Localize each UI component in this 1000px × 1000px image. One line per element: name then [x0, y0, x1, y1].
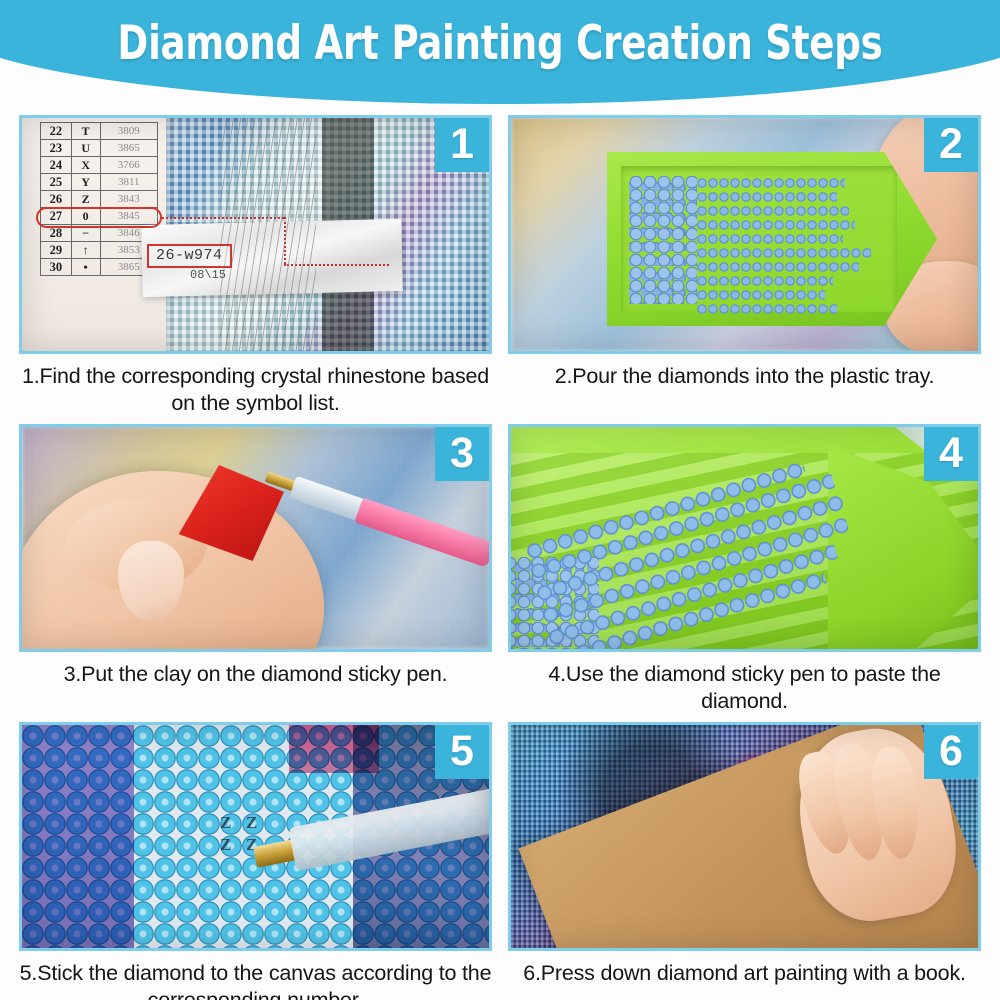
row-dmc: 3843 [100, 191, 157, 208]
canvas-symbol-z: Z [220, 813, 231, 833]
diamond-row [697, 290, 825, 301]
row-symbol: X [71, 157, 100, 174]
diamond-row [697, 262, 859, 273]
row-number: 29 [41, 242, 72, 259]
diamond-heap [629, 176, 697, 304]
table-row: 23 U 3865 [41, 140, 158, 157]
row-number: 24 [41, 157, 72, 174]
diamond-row [697, 304, 837, 315]
row-number: 26 [41, 191, 72, 208]
step-caption-2: 2.Pour the diamonds into the plastic tra… [508, 354, 981, 390]
page-header: Diamond Art Painting Creation Steps [0, 0, 1000, 104]
step-3-photo: 3 [19, 424, 492, 652]
infographic-page: Diamond Art Painting Creation Steps 22 T… [0, 0, 1000, 1000]
step-caption-6: 6.Press down diamond art painting with a… [508, 951, 981, 987]
table-row-highlighted: 26 Z 3843 [41, 191, 158, 208]
table-row: 22 T 3809 [41, 123, 158, 140]
step-caption-3: 3.Put the clay on the diamond sticky pen… [19, 652, 492, 688]
canvas-symbol-z: Z [246, 813, 257, 833]
symbol-table: 22 T 3809 23 U 3865 24 X 3766 [40, 122, 158, 276]
step-card-1: 22 T 3809 23 U 3865 24 X 3766 [19, 115, 492, 417]
row-dmc: 3766 [100, 157, 157, 174]
row-symbol: Y [71, 174, 100, 191]
row-dmc: 3809 [100, 123, 157, 140]
table-row: 24 X 3766 [41, 157, 158, 174]
steps-grid: 22 T 3809 23 U 3865 24 X 3766 [19, 115, 981, 1000]
step-badge-5: 5 [435, 725, 489, 779]
bag-strands [220, 118, 316, 351]
step-2-photo: 2 [508, 115, 981, 354]
step-caption-4: 4.Use the diamond sticky pen to paste th… [508, 652, 981, 715]
step-badge-2: 2 [924, 118, 978, 172]
row-symbol: ↑ [71, 242, 100, 259]
step-badge-3: 3 [435, 427, 489, 481]
step-caption-1: 1.Find the corresponding crystal rhinest… [19, 354, 492, 417]
canvas-symbol-z: Z [220, 835, 231, 855]
diamond-row [697, 192, 837, 203]
step-caption-5: 5.Stick the diamond to the canvas accord… [19, 951, 492, 1000]
pink-region [289, 725, 379, 773]
diamond-row [697, 206, 849, 217]
row-symbol: • [71, 259, 100, 276]
step-badge-4: 4 [924, 427, 978, 481]
bag-label: 26-w974 [147, 244, 232, 268]
table-row: 29 ↑ 3853 [41, 242, 158, 259]
table-row: 30 • 3865 [41, 259, 158, 276]
step-card-4: 4 4.Use the diamond sticky pen to paste … [508, 424, 981, 715]
step-card-6: Book 6 6.Press down diamond art painting… [508, 722, 981, 1000]
page-title: Diamond Art Painting Creation Steps [7, 16, 993, 71]
step-card-2: 2 2.Pour the diamonds into the plastic t… [508, 115, 981, 417]
row-number: 23 [41, 140, 72, 157]
diamond-row [697, 248, 871, 259]
diamond-row [697, 220, 855, 231]
diamond-row [697, 234, 843, 245]
step-4-photo: 4 [508, 424, 981, 652]
row-dmc: 3811 [100, 174, 157, 191]
diamond-row [697, 178, 845, 189]
step-5-photo: Z Z Z Z 5 [19, 722, 492, 951]
purple-region [22, 725, 134, 948]
row-number: 30 [41, 259, 72, 276]
bag-date: 08\15 [190, 268, 226, 282]
row-symbol: U [71, 140, 100, 157]
row-symbol: T [71, 123, 100, 140]
row-dmc: 3865 [100, 140, 157, 157]
step-badge-6: 6 [924, 725, 978, 779]
step-badge-1: 1 [435, 118, 489, 172]
step-card-3: 3 3.Put the clay on the diamond sticky p… [19, 424, 492, 715]
diamond-row [697, 276, 833, 287]
row-number: 25 [41, 174, 72, 191]
step-1-photo: 22 T 3809 23 U 3865 24 X 3766 [19, 115, 492, 354]
table-row: 25 Y 3811 [41, 174, 158, 191]
highlight-box [36, 207, 162, 228]
step-card-5: Z Z Z Z 5 5.Stick the diamond to the can… [19, 722, 492, 1000]
row-symbol: Z [71, 191, 100, 208]
step-6-photo: Book 6 [508, 722, 981, 951]
row-number: 22 [41, 123, 72, 140]
